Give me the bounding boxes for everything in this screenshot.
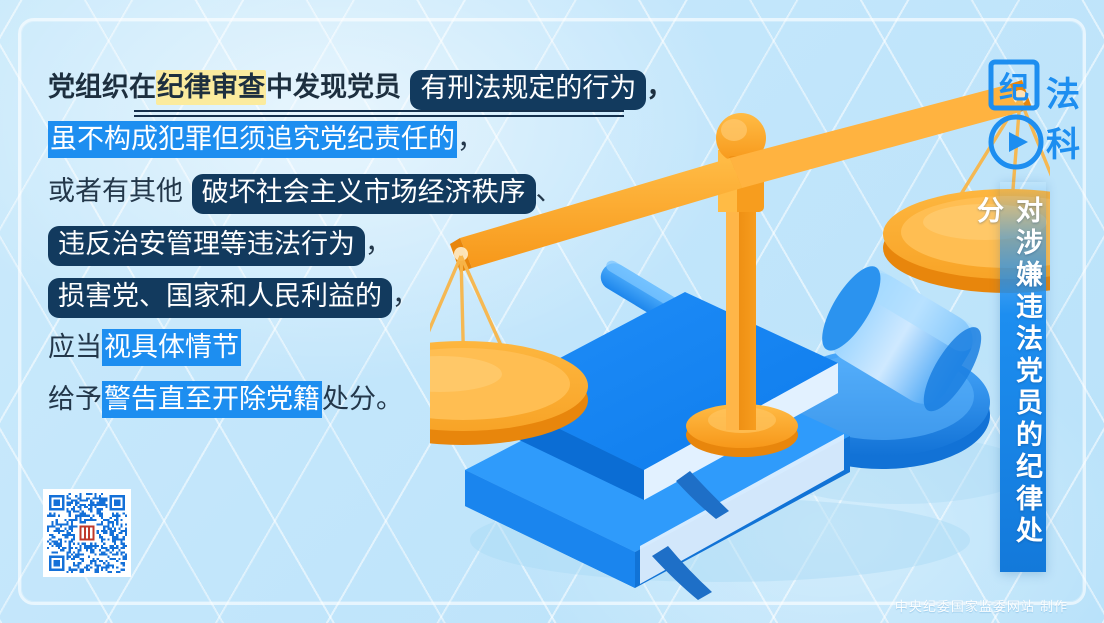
text-line-3: 或者有其他 破坏社会主义市场经济秩序、: [48, 166, 688, 218]
line-7-seg-3: 处分。: [322, 384, 403, 415]
line-3-punct: 、: [536, 176, 563, 207]
footer-credit: 中央纪委国家监委网站 制作: [895, 596, 1068, 615]
line-7-seg-1: 给予: [48, 384, 102, 415]
line-1-highlight-yellow: 纪律审查: [156, 70, 266, 105]
line-4-comma: ，: [365, 228, 392, 259]
infographic-canvas: 党组织在纪律审查中发现党员 有刑法规定的行为， 虽不构成犯罪但须追究党纪责任的，…: [0, 0, 1104, 623]
logo-char-ke: 科: [1046, 125, 1080, 165]
vertical-title-text: 对涉嫌违法党员的纪律处分: [1000, 196, 1046, 562]
line-6-highlight-blue: 视具体情节: [102, 329, 241, 366]
line-1-pill: 有刑法规定的行为: [410, 70, 646, 110]
text-line-6: 应当视具体情节: [48, 322, 688, 374]
logo-char-fa: 法: [1046, 75, 1080, 115]
qr-code[interactable]: [43, 489, 131, 577]
line-7-highlight-blue: 警告直至开除党籍: [102, 381, 322, 418]
text-line-7: 给予警告直至开除党籍处分。: [48, 374, 688, 426]
line-3-pill: 破坏社会主义市场经济秩序: [192, 174, 536, 214]
line-1-seg-3: 中发现党员: [266, 72, 410, 103]
line-2-comma: ，: [457, 124, 484, 155]
line-6-seg-1: 应当: [48, 332, 102, 363]
vertical-title-banner: 对涉嫌违法党员的纪律处分: [1000, 182, 1046, 572]
logo-char-ji: 纪: [999, 71, 1029, 106]
text-line-4: 违反治安管理等违法行为，: [48, 218, 688, 270]
text-line-2: 虽不构成犯罪但须追究党纪责任的，: [48, 114, 688, 166]
text-line-5: 损害党、国家和人民利益的，: [48, 270, 688, 322]
line-5-comma: ，: [392, 280, 419, 311]
line-5-pill: 损害党、国家和人民利益的: [48, 278, 392, 318]
text-line-1: 党组织在纪律审查中发现党员 有刑法规定的行为，: [48, 62, 688, 114]
double-underline: [134, 110, 624, 117]
line-4-pill: 违反治安管理等违法行为: [48, 226, 365, 266]
line-3-seg-1: 或者有其他: [48, 176, 192, 207]
jifa-baike-logo[interactable]: 纪 法 科: [988, 58, 1086, 176]
line-1-comma: ，: [646, 72, 673, 103]
line-1-seg-1: 党组织在: [48, 72, 156, 103]
line-2-highlight-blue: 虽不构成犯罪但须追究党纪责任的: [48, 121, 457, 158]
body-text-block: 党组织在纪律审查中发现党员 有刑法规定的行为， 虽不构成犯罪但须追究党纪责任的，…: [48, 62, 688, 426]
